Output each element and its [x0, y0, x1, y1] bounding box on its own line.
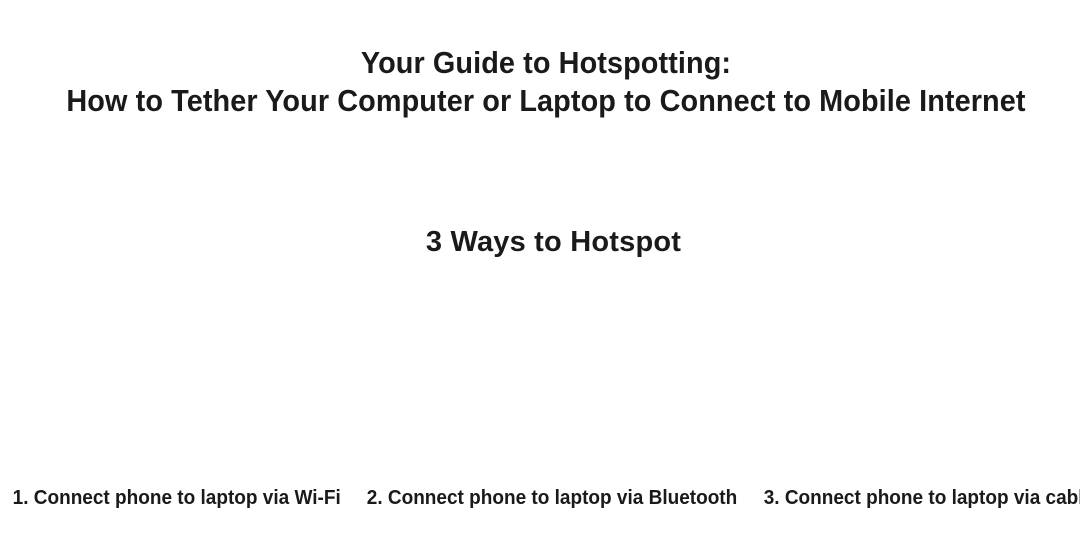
page-title-line-1: Your Guide to Hotspotting:	[38, 44, 1054, 82]
section-heading-container: 3 Ways to Hotspot	[0, 222, 1080, 262]
page-title-line-2: How to Tether Your Computer or Laptop to…	[38, 82, 1054, 120]
section-heading: 3 Ways to Hotspot	[426, 222, 681, 262]
method-item-cable: 3. Connect phone to laptop via cable	[751, 486, 1080, 510]
illustration-slot-bluetooth	[360, 284, 720, 480]
illustration-slot-cable	[720, 284, 1080, 480]
method-caption: 2. Connect phone to laptop via Bluetooth	[367, 486, 738, 510]
illustration-row	[0, 284, 1080, 480]
caption-row: 1. Connect phone to laptop via Wi-Fi 2. …	[0, 486, 1080, 510]
illustration-slot-wifi	[0, 284, 360, 480]
page-title: Your Guide to Hotspotting: How to Tether…	[0, 44, 1080, 120]
method-caption: 1. Connect phone to laptop via Wi-Fi	[13, 486, 341, 510]
method-item-wifi: 1. Connect phone to laptop via Wi-Fi	[0, 486, 353, 510]
method-caption: 3. Connect phone to laptop via cable	[764, 486, 1080, 510]
infographic-page: Your Guide to Hotspotting: How to Tether…	[0, 0, 1080, 552]
method-item-bluetooth: 2. Connect phone to laptop via Bluetooth	[353, 486, 751, 510]
